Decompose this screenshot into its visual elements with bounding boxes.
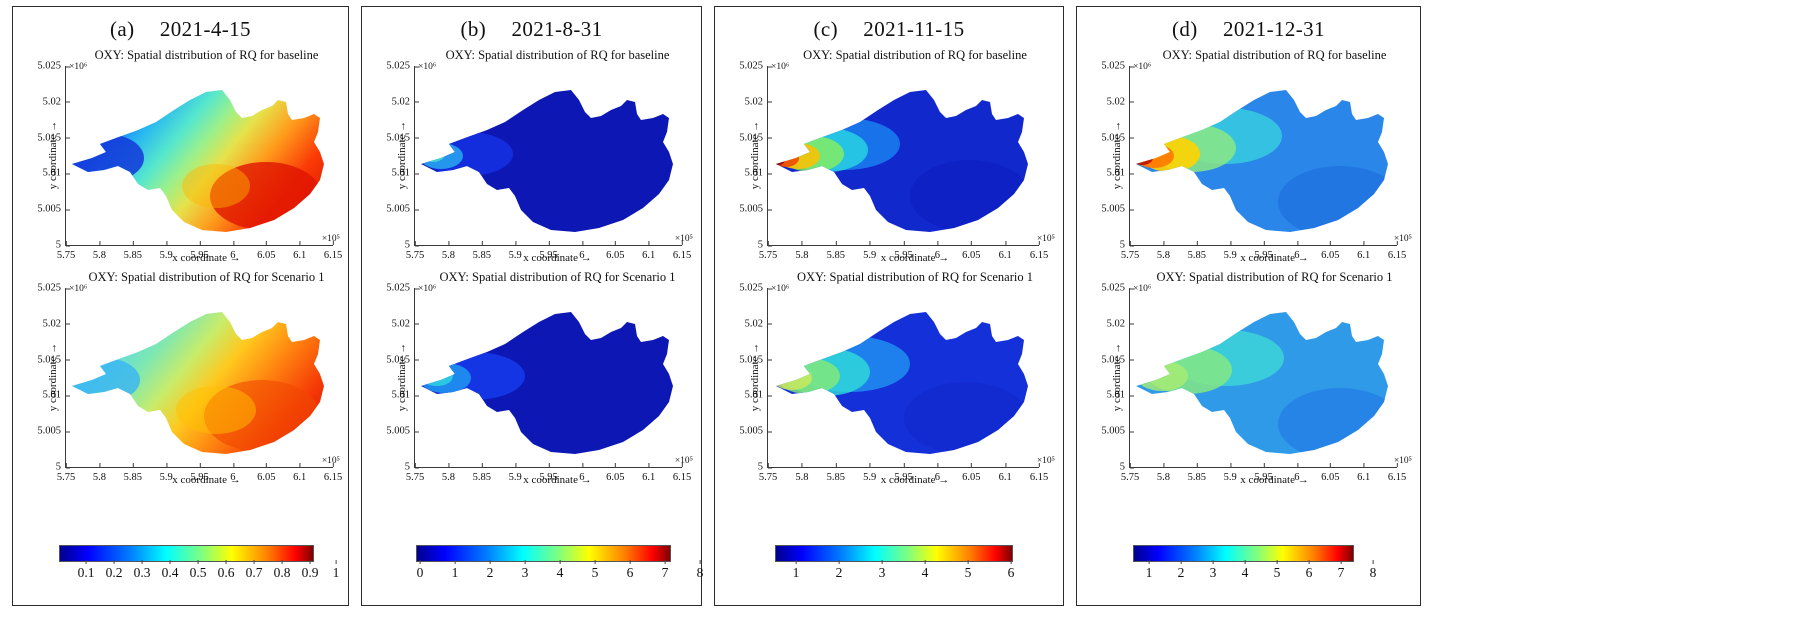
axes-scenario1: 5 5.005 5.01 5.015 5.02 5.025 5.75 5.8 5… (65, 288, 333, 468)
panel-a-title: (a) 2021-4-15 (13, 17, 348, 42)
colorbar-tick: 2 (1178, 565, 1185, 581)
y-axis-label: y coordinate → (1111, 121, 1123, 189)
panel-d-map-scenario1: OXY: Spatial distribution of RQ for Scen… (1077, 266, 1420, 488)
panel-d: (d) 2021-12-31 OXY: Spatial distribution… (1076, 6, 1421, 606)
x-exponent: ×10⁵ (322, 234, 340, 244)
colorbar-tick: 2 (487, 565, 494, 581)
y-axis-label: y coordinate → (1111, 343, 1123, 411)
colorbar-tick: 3 (1210, 565, 1217, 581)
x-axis-label: x coordinate → (414, 474, 701, 486)
panel-a-maps: OXY: Spatial distribution of RQ for base… (13, 44, 348, 539)
panel-d-maps: OXY: Spatial distribution of RQ for base… (1077, 44, 1420, 539)
axes-scenario1: 5 5.005 5.01 5.015 5.02 5.025 5.75 5.8 5… (767, 288, 1039, 468)
heatmap-surface (1130, 66, 1397, 245)
map-subtitle: OXY: Spatial distribution of RQ for Scen… (771, 270, 1059, 285)
colorbar-gradient (775, 545, 1013, 562)
colorbar-tick: 5 (965, 565, 972, 581)
x-exponent: ×10⁵ (675, 234, 693, 244)
map-subtitle: OXY: Spatial distribution of RQ for base… (418, 48, 697, 63)
panel-a-tag: (a) (110, 17, 135, 41)
colorbar-tick: 1 (452, 565, 459, 581)
y-axis-label: y coordinate → (749, 121, 761, 189)
ytick: 5.025 (739, 283, 768, 294)
ytick: 5.025 (386, 283, 415, 294)
colorbar-tick: 0 (417, 565, 424, 581)
panel-b-map-scenario1: OXY: Spatial distribution of RQ for Scen… (362, 266, 701, 488)
panel-d-map-baseline: OXY: Spatial distribution of RQ for base… (1077, 44, 1420, 266)
axes-baseline: 5 5.005 5.01 5.015 5.02 5.025 5.75 5.8 5… (414, 66, 682, 246)
colorbar-tick: 0.7 (246, 565, 263, 581)
colorbar-tick: 6 (1008, 565, 1015, 581)
colorbar-tick: 3 (522, 565, 529, 581)
map-subtitle: OXY: Spatial distribution of RQ for Scen… (69, 270, 344, 285)
colorbar-tick: 1 (1146, 565, 1153, 581)
panel-c-map-baseline: OXY: Spatial distribution of RQ for base… (715, 44, 1063, 266)
heatmap-surface (768, 288, 1039, 467)
panel-c-map-scenario1: OXY: Spatial distribution of RQ for Scen… (715, 266, 1063, 488)
colorbar-tick: 5 (1274, 565, 1281, 581)
panel-a-map-scenario1: OXY: Spatial distribution of RQ for Scen… (13, 266, 348, 488)
ytick: 5.005 (386, 426, 415, 437)
colorbar-tick: 5 (592, 565, 599, 581)
panel-a-date: 2021-4-15 (160, 17, 251, 41)
y-axis-label: y coordinate → (47, 121, 59, 189)
x-axis-label: x coordinate → (767, 474, 1063, 486)
y-axis-label: y coordinate → (47, 343, 59, 411)
panel-b-colorbar-block: 0 1 2 3 4 5 6 7 8 (378, 539, 685, 599)
colorbar-tick: 0.2 (106, 565, 123, 581)
ytick: 5.02 (745, 318, 768, 329)
ytick: 5.02 (43, 318, 66, 329)
ytick: 5.025 (386, 61, 415, 72)
panel-c-colorbar-block: 1 2 3 4 5 6 (731, 539, 1047, 599)
x-axis-label: x coordinate → (414, 252, 701, 264)
x-axis-label: x coordinate → (1129, 252, 1420, 264)
map-subtitle: OXY: Spatial distribution of RQ for base… (771, 48, 1059, 63)
ytick: 5.025 (739, 61, 768, 72)
ytick: 5.025 (37, 283, 66, 294)
colorbar-tick: 0.4 (162, 565, 179, 581)
ytick: 5.02 (392, 96, 415, 107)
ytick: 5.02 (1107, 96, 1130, 107)
panel-d-date: 2021-12-31 (1223, 17, 1325, 41)
y-axis-label: y coordinate → (396, 121, 408, 189)
map-subtitle: OXY: Spatial distribution of RQ for base… (1133, 48, 1416, 63)
heatmap-surface (768, 66, 1039, 245)
y-axis-label: y coordinate → (396, 343, 408, 411)
colorbar-tick: 0.5 (190, 565, 207, 581)
panel-a-colorbar-block: 0.1 0.2 0.3 0.4 0.5 0.6 0.7 0.8 0.9 1 (29, 539, 332, 599)
ytick: 5.005 (1101, 204, 1130, 215)
panel-c-date: 2021-11-15 (863, 17, 964, 41)
ytick: 5.02 (745, 96, 768, 107)
panel-b-date: 2021-8-31 (511, 17, 602, 41)
heatmap-surface (415, 66, 682, 245)
panel-c-maps: OXY: Spatial distribution of RQ for base… (715, 44, 1063, 539)
x-axis-label: x coordinate → (65, 474, 348, 486)
heatmap-surface (415, 288, 682, 467)
colorbar-tick: 6 (1306, 565, 1313, 581)
figure-root: (a) 2021-4-15 OXY: Spatial distribution … (0, 0, 1805, 623)
panel-b-maps: OXY: Spatial distribution of RQ for base… (362, 44, 701, 539)
panel-b: (b) 2021-8-31 OXY: Spatial distribution … (361, 6, 702, 606)
colorbar-tick: 0.6 (218, 565, 235, 581)
colorbar-tick: 7 (662, 565, 669, 581)
ytick: 5.005 (1101, 426, 1130, 437)
colorbar-tick: 4 (1242, 565, 1249, 581)
colorbar-tick: 6 (627, 565, 634, 581)
x-exponent: ×10⁵ (1394, 456, 1412, 466)
heatmap-surface (66, 288, 333, 467)
x-exponent: ×10⁵ (1394, 234, 1412, 244)
ytick: 5.025 (1101, 283, 1130, 294)
x-axis-label: x coordinate → (65, 252, 348, 264)
colorbar-gradient (1133, 545, 1354, 562)
ytick: 5.005 (739, 204, 768, 215)
panel-c-title: (c) 2021-11-15 (715, 17, 1063, 42)
panel-d-title: (d) 2021-12-31 (1077, 17, 1420, 42)
ytick: 5.02 (1107, 318, 1130, 329)
colorbar-tick: 0.3 (134, 565, 151, 581)
ytick: 5.025 (37, 61, 66, 72)
colorbar-tick: 2 (836, 565, 843, 581)
ytick: 5.02 (43, 96, 66, 107)
ytick: 5.025 (1101, 61, 1130, 72)
y-axis-label: y coordinate → (749, 343, 761, 411)
axes-baseline: 5 5.005 5.01 5.015 5.02 5.025 5.75 5.8 5… (1129, 66, 1397, 246)
x-axis-label: x coordinate → (1129, 474, 1420, 486)
colorbar-tick: 0.1 (78, 565, 95, 581)
panel-d-tag: (d) (1172, 17, 1198, 41)
ytick: 5.005 (37, 204, 66, 215)
axes-scenario1: 5 5.005 5.01 5.015 5.02 5.025 5.75 5.8 5… (414, 288, 682, 468)
heatmap-surface (1130, 288, 1397, 467)
ytick: 5.005 (739, 426, 768, 437)
heatmap-surface (66, 66, 333, 245)
colorbar-tick: 0.8 (274, 565, 291, 581)
colorbar-tick: 4 (557, 565, 564, 581)
colorbar-tick: 8 (1370, 565, 1377, 581)
ytick: 5.02 (392, 318, 415, 329)
x-exponent: ×10⁵ (1037, 234, 1055, 244)
colorbar-tick: 7 (1338, 565, 1345, 581)
panel-b-tag: (b) (460, 17, 486, 41)
panel-b-map-baseline: OXY: Spatial distribution of RQ for base… (362, 44, 701, 266)
panel-c-tag: (c) (813, 17, 838, 41)
map-subtitle: OXY: Spatial distribution of RQ for Scen… (418, 270, 697, 285)
panel-c: (c) 2021-11-15 OXY: Spatial distribution… (714, 6, 1064, 606)
ytick: 5.005 (37, 426, 66, 437)
x-exponent: ×10⁵ (322, 456, 340, 466)
colorbar-tick: 8 (697, 565, 704, 581)
colorbar-gradient (59, 545, 314, 562)
map-subtitle: OXY: Spatial distribution of RQ for Scen… (1133, 270, 1416, 285)
axes-scenario1: 5 5.005 5.01 5.015 5.02 5.025 5.75 5.8 5… (1129, 288, 1397, 468)
axes-baseline: 5 5.005 5.01 5.015 5.02 5.025 5.75 5.8 5… (65, 66, 333, 246)
map-subtitle: OXY: Spatial distribution of RQ for base… (69, 48, 344, 63)
ytick: 5.005 (386, 204, 415, 215)
panel-a: (a) 2021-4-15 OXY: Spatial distribution … (12, 6, 349, 606)
x-axis-label: x coordinate → (767, 252, 1063, 264)
colorbar-tick: 4 (922, 565, 929, 581)
x-exponent: ×10⁵ (1037, 456, 1055, 466)
panel-a-map-baseline: OXY: Spatial distribution of RQ for base… (13, 44, 348, 266)
colorbar-tick: 1 (793, 565, 800, 581)
panel-b-title: (b) 2021-8-31 (362, 17, 701, 42)
panel-d-colorbar-block: 1 2 3 4 5 6 7 8 (1093, 539, 1404, 599)
colorbar-tick: 3 (879, 565, 886, 581)
x-exponent: ×10⁵ (675, 456, 693, 466)
colorbar-tick: 1 (333, 565, 340, 581)
axes-baseline: 5 5.005 5.01 5.015 5.02 5.025 5.75 5.8 5… (767, 66, 1039, 246)
colorbar-tick: 0.9 (302, 565, 319, 581)
